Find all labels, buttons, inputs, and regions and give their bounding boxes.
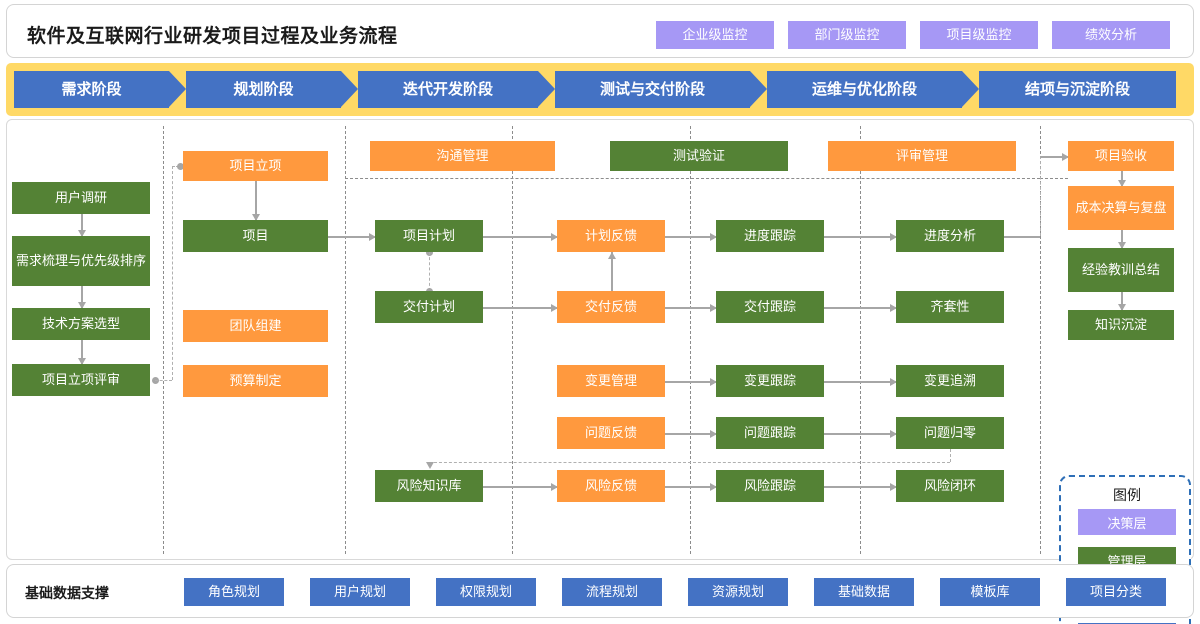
chip-e9a1b9e79baee58886e7b1bb[interactable]: 项目分类 bbox=[1066, 578, 1166, 606]
node-e4baa4e4bb98e8b79fe8b8aa[interactable]: 交付跟踪 bbox=[716, 291, 824, 323]
node-e59ba2e9989fe7bb84e5bbba[interactable]: 团队组建 bbox=[183, 310, 328, 342]
phase-e7bb93e9a1b9e4b88ee6b289e6b780e998b6e6aeb5[interactable]: 结项与沉淀阶段 bbox=[979, 71, 1176, 108]
node-e9a38ee999a9e997ade78eaf[interactable]: 风险闭环 bbox=[896, 470, 1004, 502]
dashed-connector bbox=[429, 252, 430, 291]
node-e58f98e69bb4e8b79fe8b8aa[interactable]: 变更跟踪 bbox=[716, 365, 824, 397]
column-divider bbox=[163, 126, 164, 554]
column-divider bbox=[345, 126, 346, 554]
connector-arrow bbox=[824, 381, 896, 383]
node-e997aee9a298e58f8de9a688[interactable]: 问题反馈 bbox=[557, 417, 665, 449]
node-e7bb8fe9aa8ce69599e8aeade680bbe7bb93[interactable]: 经验教训总结 bbox=[1068, 248, 1174, 292]
node-e9a38ee999a9e8b79fe8b8aa[interactable]: 风险跟踪 bbox=[716, 470, 824, 502]
legend-title: 图例 bbox=[1061, 485, 1193, 505]
page-title: 软件及互联网行业研发项目过程及业务流程 bbox=[27, 21, 398, 48]
chip-e6a8a1e69dbfe5ba93[interactable]: 模板库 bbox=[940, 578, 1040, 606]
node-e8bf9be5baa6e58886e69e90[interactable]: 进度分析 bbox=[896, 220, 1004, 252]
node-e9a1b9e79bae[interactable]: 项目 bbox=[183, 220, 328, 252]
node-e4baa4e4bb98e8aea1e58892[interactable]: 交付计划 bbox=[375, 291, 483, 323]
node-e997aee9a298e8b79fe8b8aa[interactable]: 问题跟踪 bbox=[716, 417, 824, 449]
node-e6b58be8af95e9aa8ce8af81[interactable]: 测试验证 bbox=[610, 141, 788, 171]
node-e9a1b9e79baee9aa8ce694b6[interactable]: 项目验收 bbox=[1068, 141, 1174, 171]
node-e9a1b9e79baee7ab8be9a1b9e8af84e5aea1[interactable]: 项目立项评审 bbox=[12, 364, 150, 396]
column-divider bbox=[690, 126, 691, 554]
chip-e8b584e6ba90e8a784e58892[interactable]: 资源规划 bbox=[688, 578, 788, 606]
badge-e983a8e997a8e7baa7e79b91e68ea7[interactable]: 部门级监控 bbox=[788, 21, 906, 49]
arrow-head-icon bbox=[426, 462, 434, 469]
node-e79fa5e8af86e6b289e6b780[interactable]: 知识沉淀 bbox=[1068, 310, 1174, 340]
swimlane-divider bbox=[345, 178, 1040, 179]
node-e9a284e7ae97e588b6e5ae9a[interactable]: 预算制定 bbox=[183, 365, 328, 397]
column-divider bbox=[860, 126, 861, 554]
connector-arrow bbox=[1004, 236, 1040, 238]
node-e9a1b9e79baee7ab8be9a1b9[interactable]: 项目立项 bbox=[183, 151, 328, 181]
connector-arrow bbox=[665, 236, 716, 238]
phase-e99c80e6b182e998b6e6aeb5[interactable]: 需求阶段 bbox=[14, 71, 169, 108]
connector-arrow bbox=[824, 486, 896, 488]
node-e58f98e69bb4e8bfbde6baaf[interactable]: 变更追溯 bbox=[896, 365, 1004, 397]
phase-e8bf90e7bbb4e4b88ee4bc98e58c96e998b6e6aeb5[interactable]: 运维与优化阶段 bbox=[767, 71, 962, 108]
node-e997aee9a298e5bd92e99bb6[interactable]: 问题归零 bbox=[896, 417, 1004, 449]
node-e68a80e69cafe696b9e6a188e98089e59e8b[interactable]: 技术方案选型 bbox=[12, 308, 150, 340]
node-e9a1b9e79baee8aea1e58892[interactable]: 项目计划 bbox=[375, 220, 483, 252]
chip-e6b581e7a88be8a784e58892[interactable]: 流程规划 bbox=[562, 578, 662, 606]
node-e9a38ee999a9e79fa5e8af86e5ba93[interactable]: 风险知识库 bbox=[375, 470, 483, 502]
connector-arrow bbox=[483, 307, 557, 309]
node-e8bf9be5baa6e8b79fe8b8aa[interactable]: 进度跟踪 bbox=[716, 220, 824, 252]
arrow-head-icon bbox=[608, 252, 616, 259]
dashed-connector bbox=[950, 449, 951, 462]
node-e9a38ee999a9e58f8de9a688[interactable]: 风险反馈 bbox=[557, 470, 665, 502]
dashed-connector bbox=[1040, 156, 1041, 236]
node-e8af84e5aea1e7aea1e79086[interactable]: 评审管理 bbox=[828, 141, 1016, 171]
connector-arrow bbox=[824, 433, 896, 435]
node-e794a8e688b7e8b083e7a094[interactable]: 用户调研 bbox=[12, 182, 150, 214]
swimlane-divider bbox=[1040, 178, 1068, 179]
connector-arrow bbox=[665, 307, 716, 309]
node-e68890e69cace586b3e7ae97e4b88ee5a48de79b98[interactable]: 成本决算与复盘 bbox=[1068, 186, 1174, 230]
node-e99c80e6b182e6a2b3e79086e4b88ee4bc98e58588e7baa7e68e92e5ba8f[interactable]: 需求梳理与优先级排序 bbox=[12, 236, 150, 286]
column-divider bbox=[512, 126, 513, 554]
connector-arrow bbox=[665, 486, 716, 488]
header-card: 软件及互联网行业研发项目过程及业务流程 企业级监控部门级监控项目级监控绩效分析 bbox=[6, 4, 1194, 58]
badge-e9a1b9e79baee7baa7e79b91e68ea7[interactable]: 项目级监控 bbox=[920, 21, 1038, 49]
chip-e794a8e688b7e8a784e58892[interactable]: 用户规划 bbox=[310, 578, 410, 606]
connector-arrow bbox=[824, 307, 896, 309]
chip-e8a792e889b2e8a784e58892[interactable]: 角色规划 bbox=[184, 578, 284, 606]
chip-e69d83e99990e8a784e58892[interactable]: 权限规划 bbox=[436, 578, 536, 606]
dashed-connector bbox=[429, 462, 950, 463]
footer-card: 基础数据支撑 角色规划用户规划权限规划流程规划资源规划基础数据模板库项目分类 bbox=[6, 564, 1194, 618]
node-e9bd90e5a597e680a7[interactable]: 齐套性 bbox=[896, 291, 1004, 323]
node-e8aea1e58892e58f8de9a688[interactable]: 计划反馈 bbox=[557, 220, 665, 252]
flowchart-page: 软件及互联网行业研发项目过程及业务流程 企业级监控部门级监控项目级监控绩效分析 … bbox=[0, 0, 1200, 624]
phase-e8a784e58892e998b6e6aeb5[interactable]: 规划阶段 bbox=[186, 71, 341, 108]
legend-item-e586b3e7ad96e5b182: 决策层 bbox=[1078, 509, 1176, 535]
footer-label: 基础数据支撑 bbox=[25, 583, 109, 603]
phase-e8bfade4bba3e5bc80e58f91e998b6e6aeb5[interactable]: 迭代开发阶段 bbox=[358, 71, 538, 108]
dashed-connector bbox=[155, 380, 172, 381]
connector-arrow bbox=[665, 381, 716, 383]
connector-arrow bbox=[483, 236, 557, 238]
flow-canvas: 沟通管理测试验证评审管理项目验收 用户调研需求梳理与优先级排序技术方案选型项目立… bbox=[6, 119, 1194, 560]
badge-e4bc81e4b89ae7baa7e79b91e68ea7[interactable]: 企业级监控 bbox=[656, 21, 774, 49]
node-e4baa4e4bb98e58f8de9a688[interactable]: 交付反馈 bbox=[557, 291, 665, 323]
dashed-connector bbox=[172, 166, 173, 380]
phase-band: 需求阶段规划阶段迭代开发阶段测试与交付阶段运维与优化阶段结项与沉淀阶段 bbox=[6, 63, 1194, 116]
chip-e59fbae7a180e695b0e68dae[interactable]: 基础数据 bbox=[814, 578, 914, 606]
connector-arrow bbox=[665, 433, 716, 435]
connector-arrow bbox=[483, 486, 557, 488]
badge-e7bba9e69588e58886e69e90[interactable]: 绩效分析 bbox=[1052, 21, 1170, 49]
node-e58f98e69bb4e7aea1e79086[interactable]: 变更管理 bbox=[557, 365, 665, 397]
node-e6b29fe9809ae7aea1e79086[interactable]: 沟通管理 bbox=[370, 141, 555, 171]
connector-arrow bbox=[824, 236, 896, 238]
connector-arrow bbox=[328, 236, 375, 238]
phase-e6b58be8af95e4b88ee4baa4e4bb98e998b6e6aeb5[interactable]: 测试与交付阶段 bbox=[555, 71, 750, 108]
